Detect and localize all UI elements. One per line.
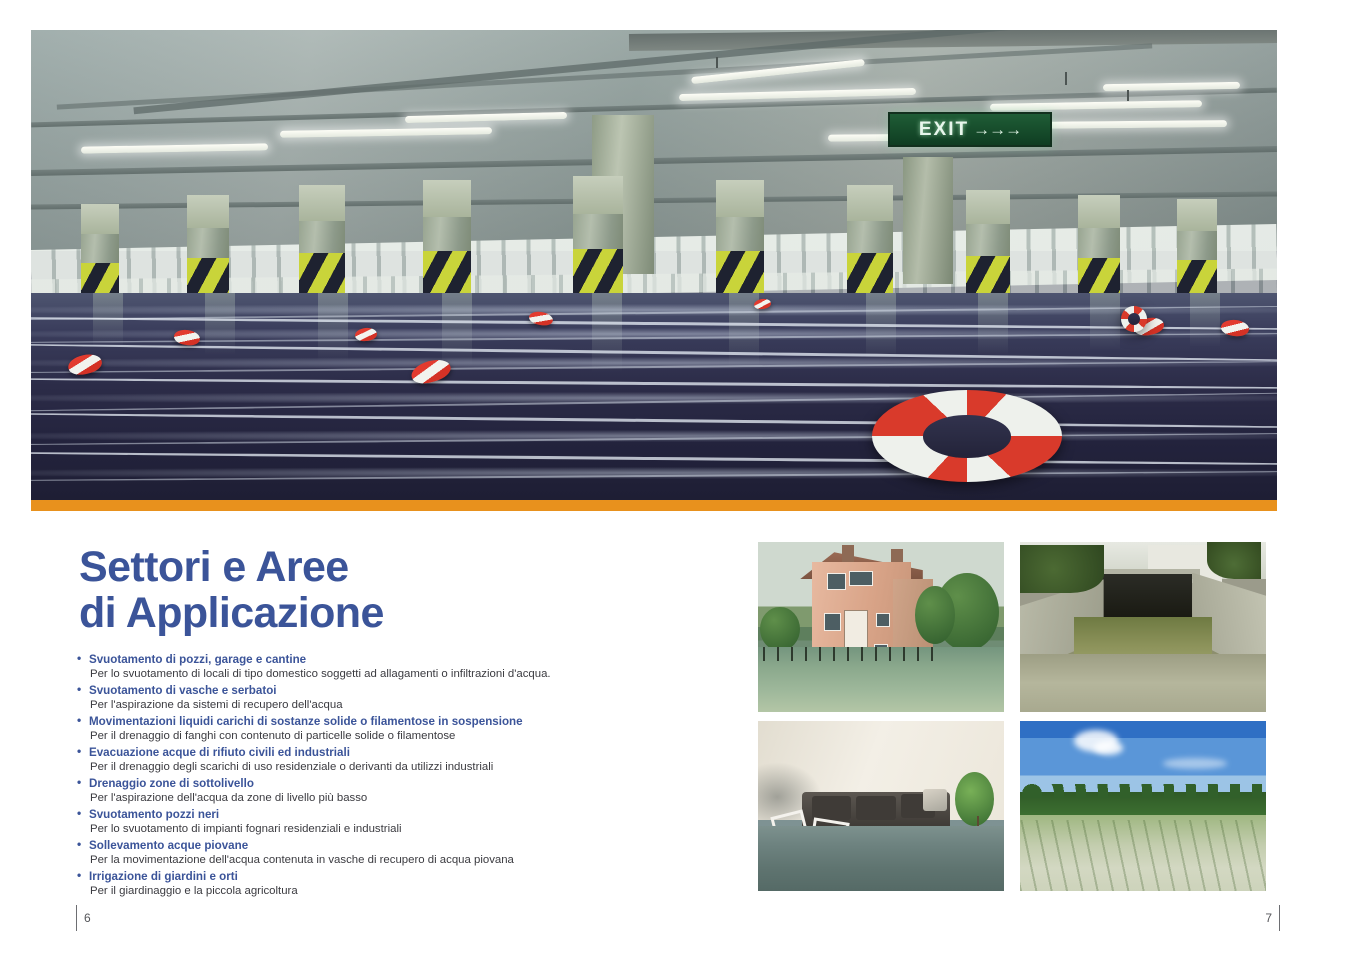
page-rule bbox=[1279, 905, 1280, 931]
orange-accent-bar bbox=[31, 500, 1277, 511]
photo-flooded-house bbox=[758, 542, 1004, 712]
exit-sign: EXIT →→→ bbox=[888, 112, 1051, 147]
page-rule bbox=[76, 905, 77, 931]
list-item-description: Per lo svuotamento di impianti fognari r… bbox=[76, 822, 716, 837]
list-item-heading: Svuotamento di vasche e serbatoi bbox=[76, 683, 716, 698]
list-item: Movimentazioni liquidi carichi di sostan… bbox=[76, 714, 716, 744]
list-item-heading: Sollevamento acque piovane bbox=[76, 838, 716, 853]
list-item-description: Per il drenaggio degli scarichi di uso r… bbox=[76, 760, 716, 775]
list-item: Sollevamento acque piovane Per la movime… bbox=[76, 838, 716, 868]
page-number-left: 6 bbox=[76, 905, 91, 931]
life-ring bbox=[872, 390, 1062, 482]
list-item-heading: Irrigazione di giardini e orti bbox=[76, 869, 716, 884]
light-stem bbox=[1127, 90, 1129, 101]
list-item-description: Per il drenaggio di fanghi con contenuto… bbox=[76, 729, 716, 744]
list-item: Svuotamento pozzi neri Per lo svuotament… bbox=[76, 807, 716, 837]
list-item: Svuotamento di vasche e serbatoi Per l'a… bbox=[76, 683, 716, 713]
exit-arrow-icon: →→→ bbox=[973, 120, 1021, 140]
page-title: Settori e Aree di Applicazione bbox=[79, 545, 384, 636]
fluorescent-light bbox=[81, 143, 268, 153]
light-stem bbox=[716, 57, 718, 68]
list-item-heading: Movimentazioni liquidi carichi di sostan… bbox=[76, 714, 716, 729]
page-title-line-1: Settori e Aree bbox=[79, 545, 384, 591]
support-column bbox=[903, 157, 953, 284]
list-item: Evacuazione acque di rifiuto civili ed i… bbox=[76, 745, 716, 775]
list-item-description: Per l'aspirazione da sistemi di recupero… bbox=[76, 698, 716, 713]
fluorescent-light bbox=[990, 100, 1202, 111]
page-number-right-value: 7 bbox=[1265, 911, 1272, 925]
list-item-description: Per il giardinaggio e la piccola agricol… bbox=[76, 884, 716, 899]
floating-cone bbox=[67, 352, 104, 378]
application-list: Svuotamento di pozzi, garage e cantine P… bbox=[76, 652, 716, 900]
hero-image-container: EXIT →→→ bbox=[31, 30, 1277, 511]
exit-sign-label: EXIT bbox=[919, 119, 969, 141]
small-life-ring bbox=[1121, 306, 1147, 332]
flood-water bbox=[31, 293, 1277, 500]
page-number-left-value: 6 bbox=[84, 911, 91, 925]
list-item-heading: Svuotamento pozzi neri bbox=[76, 807, 716, 822]
list-item-heading: Drenaggio zone di sottolivello bbox=[76, 776, 716, 791]
light-stem bbox=[1065, 72, 1067, 85]
list-item-heading: Evacuazione acque di rifiuto civili ed i… bbox=[76, 745, 716, 760]
fluorescent-light bbox=[1028, 120, 1227, 129]
list-item: Irrigazione di giardini e orti Per il gi… bbox=[76, 869, 716, 899]
page-number-right: 7 bbox=[1265, 905, 1280, 931]
fluorescent-light bbox=[280, 128, 492, 139]
photo-flooded-living-room bbox=[758, 721, 1004, 891]
page-title-line-2: di Applicazione bbox=[79, 591, 384, 637]
hero-flooded-garage-photo: EXIT →→→ bbox=[31, 30, 1277, 500]
list-item-description: Per l'aspirazione dell'acqua da zone di … bbox=[76, 791, 716, 806]
list-item: Svuotamento di pozzi, garage e cantine P… bbox=[76, 652, 716, 682]
photo-rice-field bbox=[1020, 721, 1266, 891]
photo-grid bbox=[758, 542, 1277, 898]
list-item-heading: Svuotamento di pozzi, garage e cantine bbox=[76, 652, 716, 667]
list-item: Drenaggio zone di sottolivello Per l'asp… bbox=[76, 776, 716, 806]
list-item-description: Per la movimentazione dell'acqua contenu… bbox=[76, 853, 716, 868]
photo-garage-ramp bbox=[1020, 542, 1266, 712]
list-item-description: Per lo svuotamento di locali di tipo dom… bbox=[76, 667, 716, 682]
